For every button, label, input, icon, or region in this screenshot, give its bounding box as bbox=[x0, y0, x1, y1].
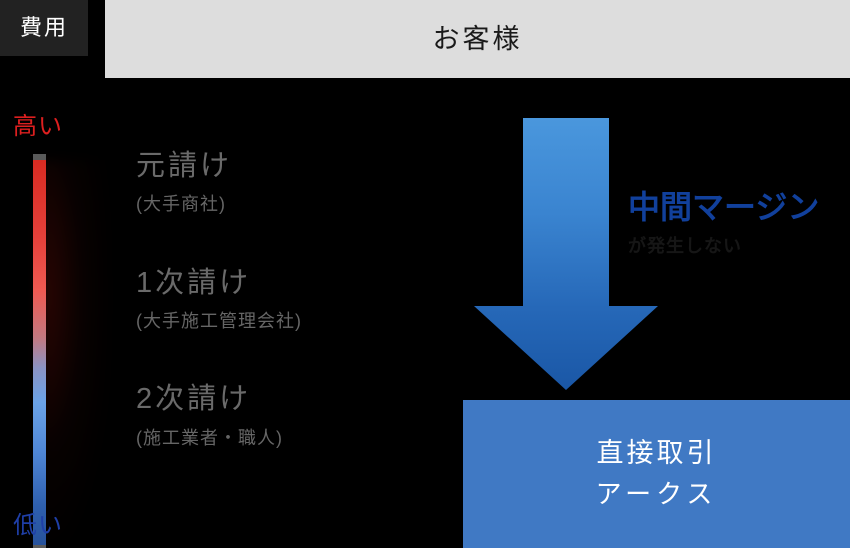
margin-callout-subline: が発生しない bbox=[628, 236, 850, 258]
direct-deal-brand: アークス bbox=[596, 478, 718, 511]
tier-row-first: 1次請け (大手施工管理会社) bbox=[136, 265, 466, 334]
tier-title: 1次請け bbox=[136, 265, 466, 301]
tier-title: 元請け bbox=[136, 148, 466, 184]
tier-subtitle: (大手商社) bbox=[136, 193, 466, 216]
direct-deal-title: 直接取引 bbox=[597, 437, 717, 471]
margin-callout: 中間マージン が発生しない bbox=[628, 190, 850, 258]
direct-deal-panel: 直接取引 アークス bbox=[463, 400, 850, 548]
tier-subtitle: (施工業者・職人) bbox=[136, 427, 466, 450]
margin-callout-headline: 中間マージン bbox=[628, 190, 850, 225]
tier-subtitle: (大手施工管理会社) bbox=[136, 310, 466, 333]
tier-title: 2次請け bbox=[136, 381, 466, 417]
cost-chip: 費用 bbox=[0, 0, 88, 56]
tier-row-prime: 元請け (大手商社) bbox=[136, 148, 466, 217]
cost-scale-high-label: 高い bbox=[13, 115, 63, 139]
customer-header-label: お客様 bbox=[433, 26, 523, 53]
cost-scale: 高い 低い bbox=[0, 110, 110, 548]
cost-chip-label: 費用 bbox=[20, 17, 68, 39]
cost-scale-low-label: 低い bbox=[13, 514, 63, 538]
customer-header-bar: お客様 bbox=[105, 0, 850, 78]
cost-scale-gradient-bar bbox=[33, 160, 46, 545]
diagram-canvas: 費用 お客様 高い 低い 元請け (大手商社) 1次請け (大手施工管理会社) … bbox=[0, 0, 850, 548]
cost-scale-glow bbox=[40, 160, 108, 545]
contractor-tier-list: 元請け (大手商社) 1次請け (大手施工管理会社) 2次請け (施工業者・職人… bbox=[136, 148, 466, 450]
tier-row-second: 2次請け (施工業者・職人) bbox=[136, 381, 466, 450]
